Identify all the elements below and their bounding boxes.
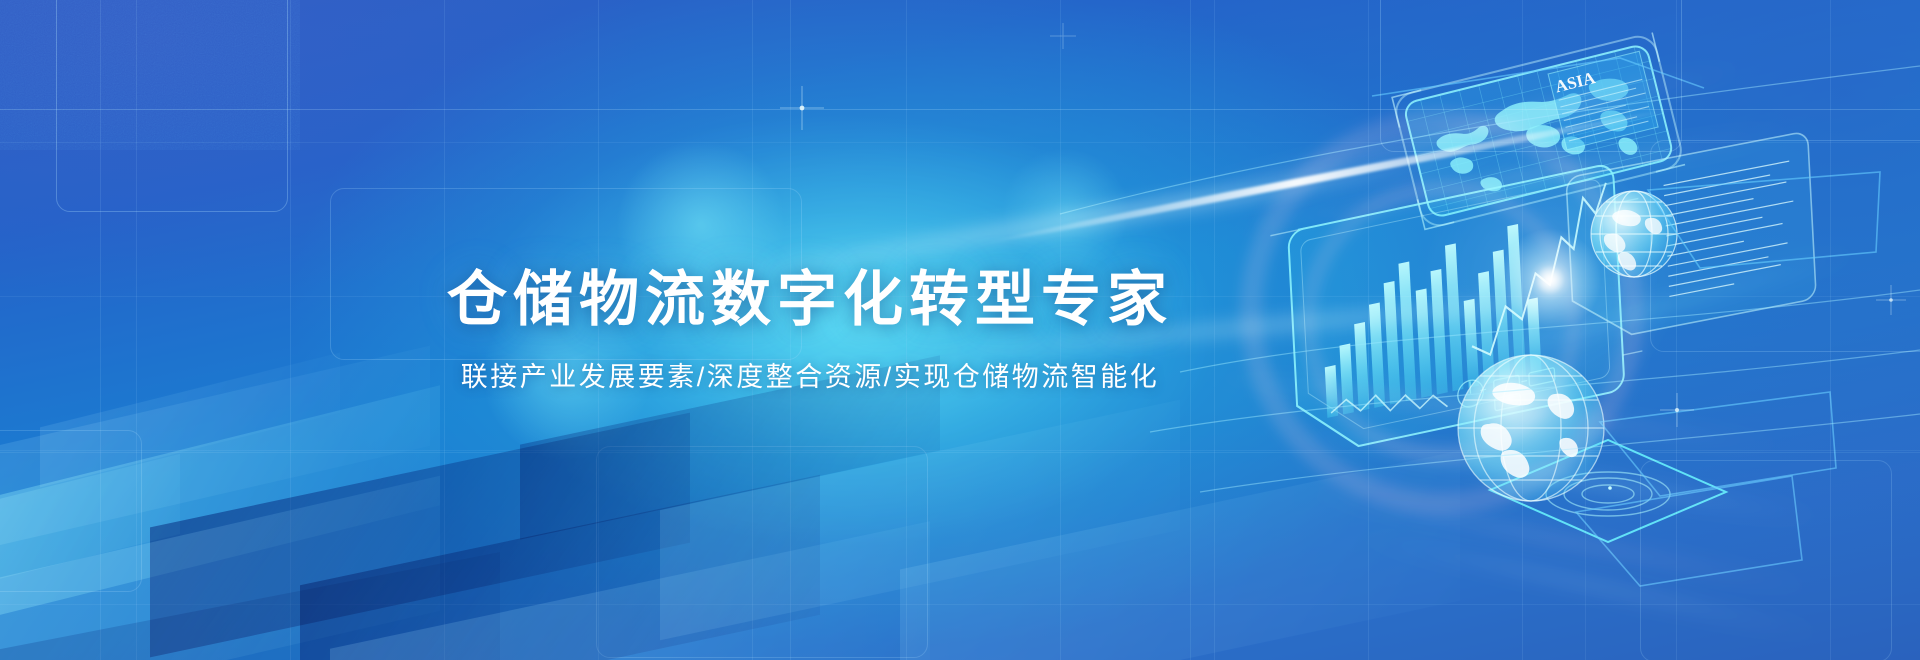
page-title: 仓储物流数字化转型专家 (447, 270, 1173, 330)
hero-banner: ASIA (0, 0, 1920, 660)
banner-copy: 仓储物流数字化转型专家 联接产业发展要素/深度整合资源/实现仓储物流智能化 (0, 0, 1920, 660)
page-subtitle: 联接产业发展要素/深度整合资源/实现仓储物流智能化 (461, 364, 1160, 391)
